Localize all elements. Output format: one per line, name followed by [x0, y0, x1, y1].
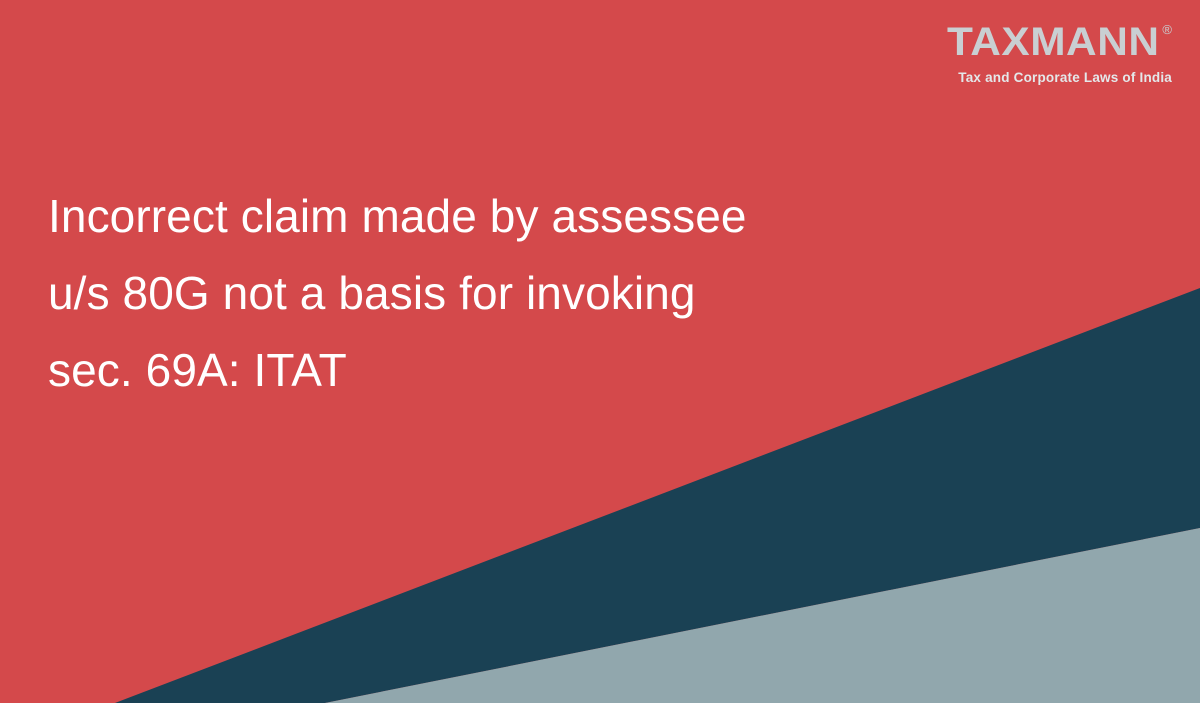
logo-tagline: Tax and Corporate Laws of India: [958, 71, 1172, 85]
logo-wordmark-row: TAXMANN ®: [958, 22, 1172, 62]
logo-wordmark-text: TAXMANN: [947, 22, 1160, 62]
taxmann-logo: TAXMANN ® Tax and Corporate Laws of Indi…: [958, 22, 1172, 85]
news-banner: TAXMANN ® Tax and Corporate Laws of Indi…: [0, 0, 1200, 703]
headline: Incorrect claim made by assessee u/s 80G…: [48, 178, 747, 409]
headline-line-3: sec. 69A: ITAT: [48, 332, 747, 409]
headline-line-1: Incorrect claim made by assessee: [48, 178, 747, 255]
headline-line-2: u/s 80G not a basis for invoking: [48, 255, 747, 332]
registered-trademark-icon: ®: [1162, 23, 1172, 36]
